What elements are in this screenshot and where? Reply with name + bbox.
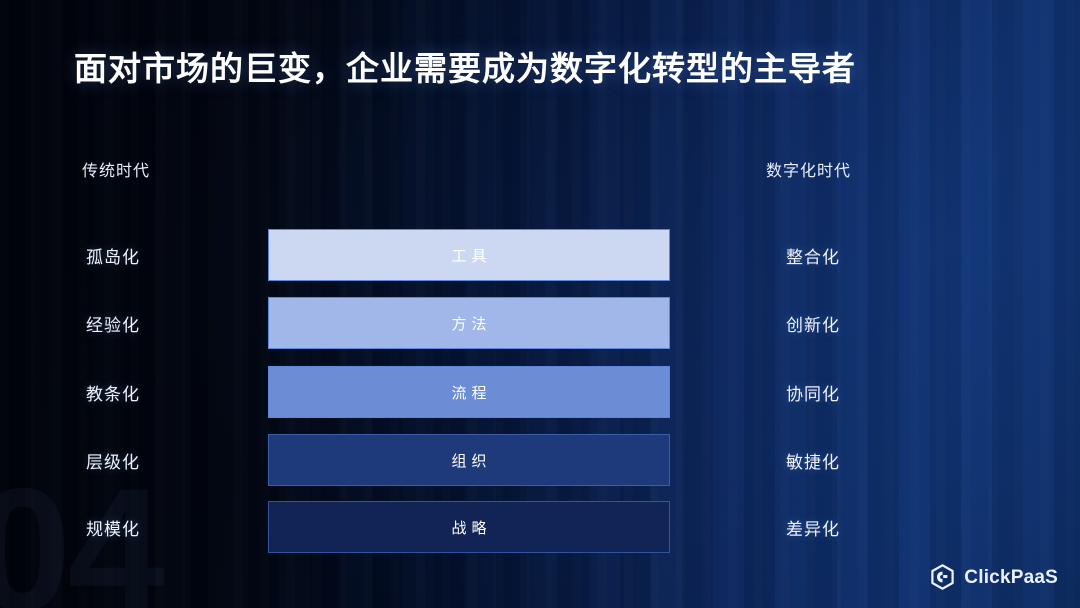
center-bar-label: 流程 [446,382,491,403]
brand-logo: ClickPaaS [930,564,1058,591]
center-bar[interactable]: 流程 [268,366,670,418]
row-label-digital: 创新化 [786,311,840,336]
table-row: 教条化流程协同化 [0,366,1080,418]
row-label-digital: 敏捷化 [786,448,840,473]
row-label-digital: 整合化 [786,243,840,268]
comparison-rows: 孤岛化工具整合化经验化方法创新化教条化流程协同化层级化组织敏捷化规模化战略差异化 [0,0,1080,608]
table-row: 层级化组织敏捷化 [0,434,1080,486]
center-bar[interactable]: 战略 [268,501,670,553]
hexagon-logo-icon [930,564,955,591]
center-bar-label: 组织 [446,450,491,471]
row-label-digital: 协同化 [786,380,840,405]
row-label-traditional: 层级化 [86,448,140,473]
center-bar[interactable]: 方法 [268,297,670,349]
table-row: 经验化方法创新化 [0,297,1080,349]
center-bar[interactable]: 组织 [268,434,670,486]
slide-root: 04 面对市场的巨变，企业需要成为数字化转型的主导者 传统时代 数字化时代 孤岛… [0,0,1080,608]
center-bar-label: 工具 [446,245,491,266]
table-row: 孤岛化工具整合化 [0,229,1080,281]
row-label-traditional: 教条化 [86,380,140,405]
brand-logo-text: ClickPaaS [964,567,1058,589]
row-label-traditional: 孤岛化 [86,243,140,268]
row-label-digital: 差异化 [786,515,840,540]
center-bar-label: 战略 [446,517,491,538]
row-label-traditional: 规模化 [86,515,140,540]
table-row: 规模化战略差异化 [0,501,1080,553]
row-label-traditional: 经验化 [86,311,140,336]
center-bar[interactable]: 工具 [268,229,670,281]
center-bar-label: 方法 [446,313,491,334]
